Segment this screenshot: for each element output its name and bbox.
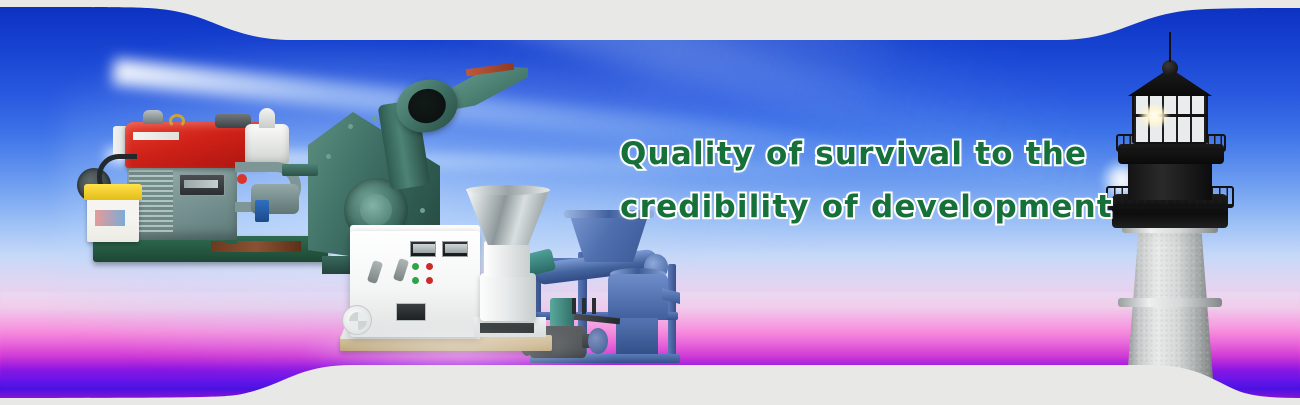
pellet-mill-hopper-rim bbox=[466, 185, 550, 195]
hammer-mill-arm bbox=[282, 164, 318, 176]
blue-machine-chamber-base bbox=[616, 318, 658, 354]
headline-line-2: credibility of development bbox=[620, 181, 1090, 234]
pellet-mill-neck bbox=[484, 241, 530, 277]
engine-air-filter bbox=[245, 124, 289, 166]
blue-machine-valves bbox=[570, 298, 604, 314]
pellet-mill-vent bbox=[396, 303, 426, 321]
pellet-mill-gauge bbox=[410, 241, 436, 257]
lighthouse-finial-ball bbox=[1162, 60, 1178, 76]
pellet-mill-gauge bbox=[442, 241, 468, 257]
lighthouse-lamp bbox=[1140, 106, 1168, 126]
blue-machine-post bbox=[668, 264, 676, 356]
headline-line-1: Quality of survival to the bbox=[620, 128, 1090, 181]
engine-nameplate bbox=[179, 174, 225, 196]
hammer-mill-bolt bbox=[348, 124, 353, 129]
ground-glow bbox=[300, 330, 620, 380]
pellet-mill-green-button bbox=[412, 277, 419, 284]
pellet-mill-red-button bbox=[426, 263, 433, 270]
lighthouse-band bbox=[1118, 298, 1222, 307]
pellet-mill-red-button bbox=[426, 277, 433, 284]
engine-blue-canister bbox=[255, 200, 269, 222]
blue-machine-pellet-chamber bbox=[608, 274, 668, 320]
lighthouse-lightning-rod bbox=[1169, 32, 1171, 62]
pellet-mill-green-button bbox=[412, 263, 419, 270]
hammer-mill-bolt bbox=[326, 154, 331, 159]
promotional-banner: Quality of survival to the credibility o… bbox=[0, 0, 1300, 405]
lighthouse-tower-texture bbox=[1124, 228, 1216, 405]
pellet-mill-press-drum bbox=[480, 273, 536, 321]
lighthouse bbox=[1100, 60, 1290, 405]
engine-filler-knob bbox=[143, 110, 163, 124]
engine-battery bbox=[87, 194, 139, 242]
engine-brand-label bbox=[133, 132, 179, 140]
engine-lifting-hook bbox=[169, 114, 185, 128]
engine-red-valve bbox=[237, 174, 247, 184]
diesel-engine bbox=[85, 108, 335, 288]
headline-slogan: Quality of survival to the credibility o… bbox=[620, 128, 1090, 234]
hammer-mill-bolt bbox=[372, 116, 377, 121]
